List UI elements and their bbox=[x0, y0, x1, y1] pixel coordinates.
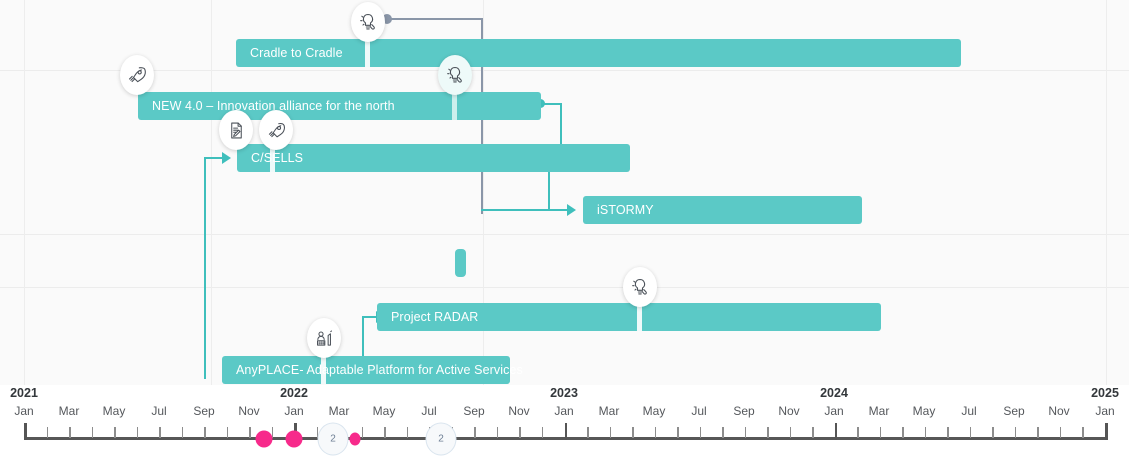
axis-month-label: Sep bbox=[1003, 404, 1024, 418]
axis-month-label: Sep bbox=[193, 404, 214, 418]
axis-year-label: 2021 bbox=[10, 386, 38, 400]
milestone-stem bbox=[637, 303, 642, 331]
axis-tick bbox=[407, 427, 409, 438]
axis-tick bbox=[92, 427, 94, 438]
milestone-stem bbox=[452, 92, 457, 120]
axis-month-label: May bbox=[643, 404, 666, 418]
axis-tick-major bbox=[565, 423, 568, 440]
axis-month-label: Nov bbox=[778, 404, 799, 418]
axis-tick bbox=[812, 427, 814, 438]
milestone-cluster[interactable]: 2 bbox=[318, 423, 349, 456]
axis-tick bbox=[204, 427, 206, 438]
axis-tick bbox=[722, 427, 724, 438]
axis-month-label: Mar bbox=[329, 404, 350, 418]
axis-tick bbox=[925, 427, 927, 438]
connector-segment bbox=[481, 209, 571, 211]
axis-tick bbox=[497, 427, 499, 438]
axis-tick bbox=[474, 427, 476, 438]
gridline-2024 bbox=[1106, 0, 1107, 385]
axis-tick bbox=[992, 427, 994, 438]
milestone-marker[interactable] bbox=[350, 433, 361, 446]
gridline-2021 bbox=[24, 0, 25, 385]
axis-month-label: Jan bbox=[284, 404, 303, 418]
axis-tick-major bbox=[835, 423, 838, 440]
gantt-bar-istormy[interactable]: iSTORMY bbox=[583, 196, 862, 224]
axis-year-label: 2023 bbox=[550, 386, 578, 400]
rocket-glyph bbox=[127, 65, 147, 85]
axis-tick bbox=[632, 427, 634, 438]
axis-tick bbox=[69, 427, 71, 438]
milestone-marker[interactable] bbox=[286, 431, 303, 448]
axis-month-label: Sep bbox=[463, 404, 484, 418]
presenter-person-glyph bbox=[315, 329, 334, 348]
axis-month-label: May bbox=[913, 404, 936, 418]
document-pen-icon[interactable] bbox=[219, 110, 253, 150]
axis-tick bbox=[542, 427, 544, 438]
axis-month-label: Mar bbox=[869, 404, 890, 418]
axis-year-label: 2024 bbox=[820, 386, 848, 400]
rocket-icon[interactable] bbox=[259, 110, 293, 150]
milestone-marker[interactable] bbox=[256, 431, 273, 448]
axis-tick bbox=[857, 427, 859, 438]
lightbulb-idea-icon[interactable] bbox=[438, 55, 472, 95]
connector-segment bbox=[540, 103, 562, 105]
milestone-cluster[interactable]: 2 bbox=[426, 423, 457, 456]
connector-segment bbox=[388, 18, 483, 20]
axis-month-label: May bbox=[373, 404, 396, 418]
axis-month-label: Jan bbox=[1095, 404, 1114, 418]
axis-month-label: Nov bbox=[238, 404, 259, 418]
row-band bbox=[0, 235, 1129, 288]
gridline-2022 bbox=[211, 0, 212, 385]
axis-tick bbox=[880, 427, 882, 438]
axis-year-label: 2022 bbox=[280, 386, 308, 400]
axis-tick bbox=[249, 427, 251, 438]
axis-month-label: Jul bbox=[691, 404, 706, 418]
axis-tick bbox=[114, 427, 116, 438]
axis-month-label: Mar bbox=[59, 404, 80, 418]
rocket-icon[interactable] bbox=[120, 55, 154, 95]
axis-tick bbox=[1082, 427, 1084, 438]
axis-tick bbox=[47, 427, 49, 438]
timeline-axis[interactable]: 2021 2022 2023 2024 2025 Jan Mar May Jul… bbox=[0, 385, 1129, 460]
axis-tick-major bbox=[1105, 423, 1108, 440]
connector-arrow bbox=[567, 204, 576, 216]
axis-tick bbox=[790, 427, 792, 438]
connector-segment bbox=[204, 157, 206, 379]
axis-tick-major bbox=[24, 423, 27, 440]
axis-month-label: Nov bbox=[508, 404, 529, 418]
document-pen-glyph bbox=[227, 121, 246, 140]
axis-tick bbox=[902, 427, 904, 438]
milestone-stem bbox=[365, 39, 370, 67]
lightbulb-idea-glyph bbox=[358, 12, 378, 32]
axis-tick bbox=[182, 427, 184, 438]
axis-tick bbox=[767, 427, 769, 438]
gantt-bar-anyplace[interactable]: AnyPLACE- Adaptable Platform for Active … bbox=[222, 356, 510, 384]
axis-month-label: Jan bbox=[554, 404, 573, 418]
axis-tick bbox=[745, 427, 747, 438]
axis-tick bbox=[519, 427, 521, 438]
connector-arrow bbox=[222, 152, 231, 164]
axis-tick bbox=[362, 427, 364, 438]
gantt-bar-project-radar[interactable]: Project RADAR bbox=[377, 303, 881, 331]
axis-tick bbox=[1037, 427, 1039, 438]
axis-month-label: May bbox=[103, 404, 126, 418]
axis-tick bbox=[677, 427, 679, 438]
axis-tick bbox=[159, 427, 161, 438]
axis-tick bbox=[700, 427, 702, 438]
axis-month-label: Jul bbox=[421, 404, 436, 418]
milestone-stem bbox=[321, 356, 326, 384]
axis-month-label: Mar bbox=[599, 404, 620, 418]
lightbulb-idea-icon[interactable] bbox=[351, 2, 385, 42]
gantt-bar-stub[interactable] bbox=[455, 249, 466, 277]
axis-month-label: Jul bbox=[961, 404, 976, 418]
axis-month-label: Jul bbox=[151, 404, 166, 418]
gantt-bar-cradle-to-cradle[interactable]: Cradle to Cradle bbox=[236, 39, 961, 67]
axis-month-label: Sep bbox=[733, 404, 754, 418]
lightbulb-idea-icon[interactable] bbox=[623, 267, 657, 307]
axis-tick bbox=[1060, 427, 1062, 438]
lightbulb-idea-glyph bbox=[630, 277, 650, 297]
axis-year-label: 2025 bbox=[1091, 386, 1119, 400]
axis-tick bbox=[137, 427, 139, 438]
axis-tick bbox=[227, 427, 229, 438]
axis-tick bbox=[655, 427, 657, 438]
gantt-roadmap-app: Cradle to Cradle NEW 4.0 – Innovation al… bbox=[0, 0, 1129, 460]
axis-tick bbox=[970, 427, 972, 438]
axis-tick bbox=[610, 427, 612, 438]
gantt-plot-area[interactable]: Cradle to Cradle NEW 4.0 – Innovation al… bbox=[0, 0, 1129, 385]
axis-tick bbox=[587, 427, 589, 438]
axis-tick bbox=[947, 427, 949, 438]
axis-tick bbox=[1015, 427, 1017, 438]
axis-tick bbox=[384, 427, 386, 438]
gantt-bar-new40[interactable]: NEW 4.0 – Innovation alliance for the no… bbox=[138, 92, 541, 120]
presenter-person-icon[interactable] bbox=[307, 318, 341, 358]
rocket-glyph bbox=[267, 121, 286, 140]
axis-month-label: Nov bbox=[1048, 404, 1069, 418]
axis-month-label: Jan bbox=[14, 404, 33, 418]
axis-month-label: Jan bbox=[824, 404, 843, 418]
lightbulb-idea-glyph bbox=[445, 65, 465, 85]
gantt-bar-csells[interactable]: C/SELLS bbox=[237, 144, 630, 172]
